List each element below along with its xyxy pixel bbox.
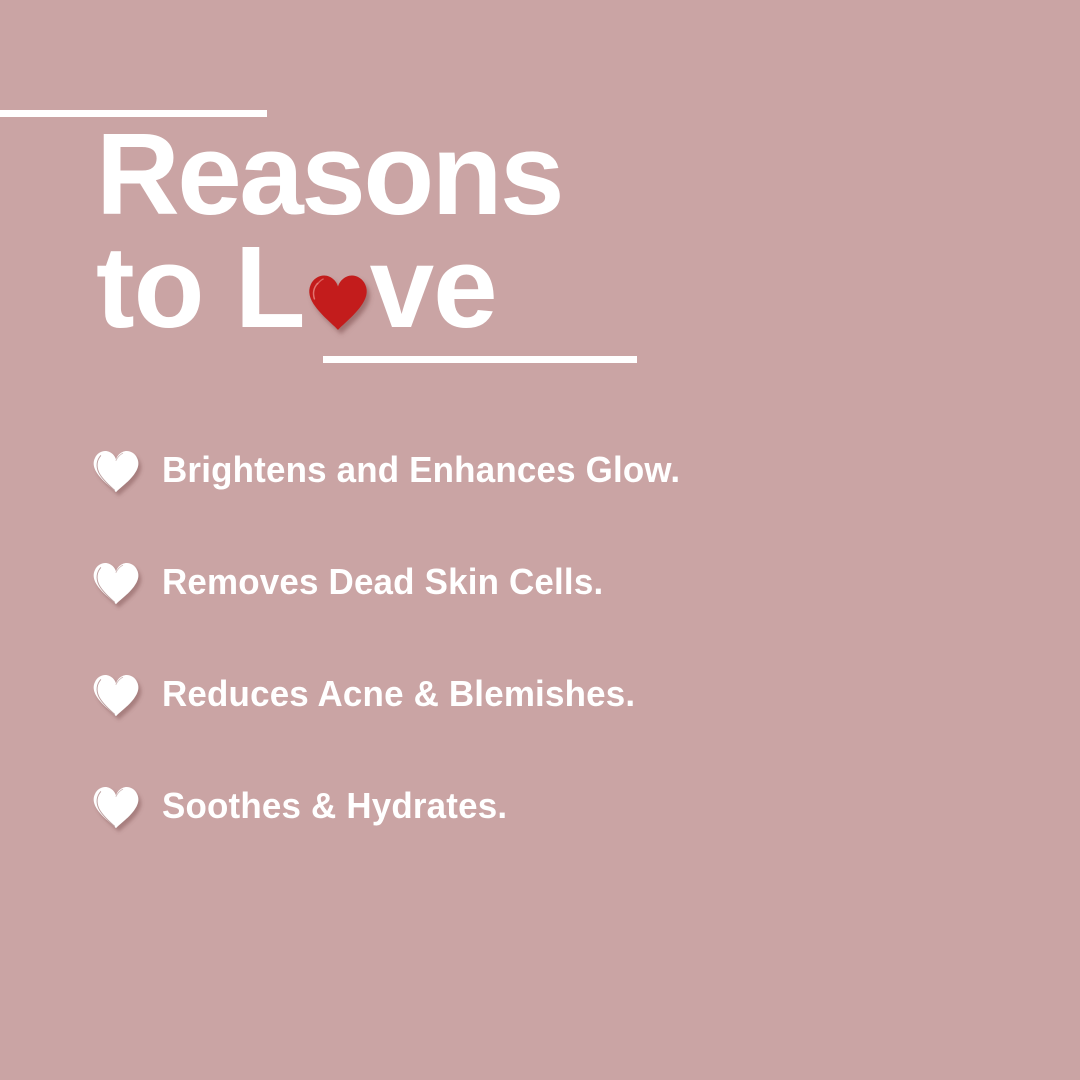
heart-icon-white <box>92 448 140 494</box>
heart-icon-white <box>92 560 140 606</box>
list-item: Reduces Acne & Blemishes. <box>92 667 992 779</box>
page-title: Reasons to L ve <box>96 118 916 344</box>
heart-icon-red <box>307 271 369 333</box>
list-item: Removes Dead Skin Cells. <box>92 555 992 667</box>
list-item: Soothes & Hydrates. <box>92 779 992 891</box>
list-item-label: Brightens and Enhances Glow. <box>162 449 967 491</box>
headline-underline-rule <box>323 356 637 363</box>
list-item-label: Removes Dead Skin Cells. <box>162 561 967 603</box>
list-item: Brightens and Enhances Glow. <box>92 443 992 555</box>
headline-line-two-suffix: ve <box>370 222 497 352</box>
headline-line-two: to L ve <box>96 231 916 344</box>
heart-icon-white <box>92 672 140 718</box>
headline-line-one: Reasons <box>96 118 916 231</box>
heart-icon-white <box>92 784 140 830</box>
list-item-label: Reduces Acne & Blemishes. <box>162 673 967 715</box>
benefits-list: Brightens and Enhances Glow. Removes Dea… <box>92 443 992 891</box>
list-item-label: Soothes & Hydrates. <box>162 785 967 827</box>
headline-line-two-prefix: to L <box>96 222 305 352</box>
poster-canvas: Reasons to L ve <box>0 0 1080 1080</box>
